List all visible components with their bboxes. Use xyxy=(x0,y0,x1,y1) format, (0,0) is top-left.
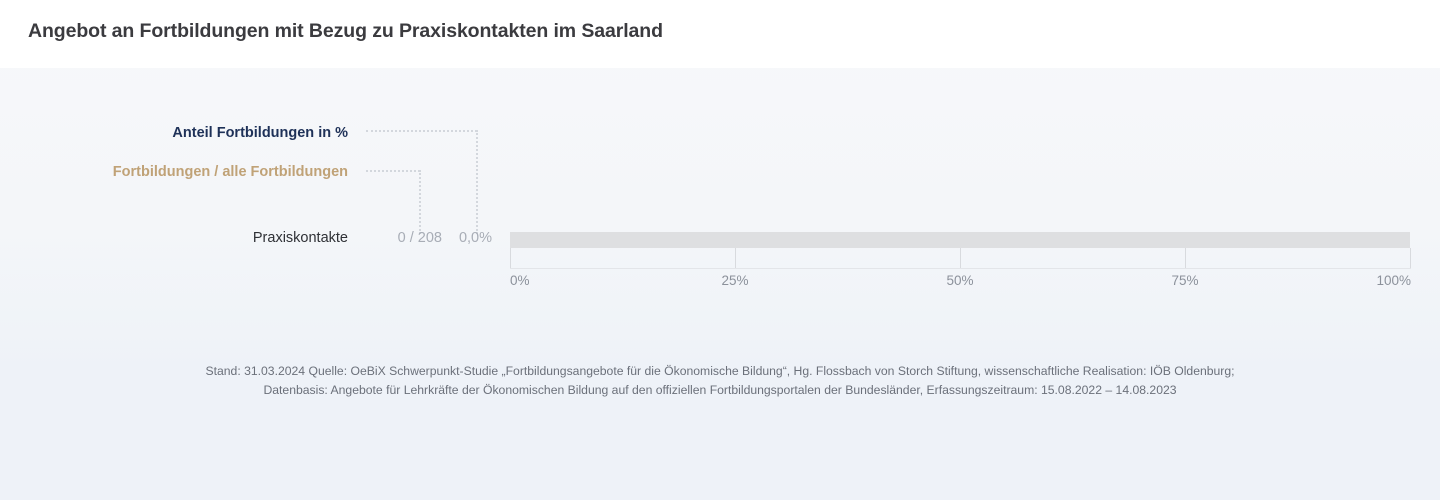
chart-page: Angebot an Fortbildungen mit Bezug zu Pr… xyxy=(0,0,1440,500)
header-band: Angebot an Fortbildungen mit Bezug zu Pr… xyxy=(0,0,1440,68)
axis-tick-0 xyxy=(510,248,511,268)
column-header-percent: Anteil Fortbildungen in % xyxy=(172,125,348,141)
leader-line-percent-vertical xyxy=(476,130,478,234)
footnote-line-1: Stand: 31.03.2024 Quelle: OeBiX Schwerpu… xyxy=(0,362,1440,381)
row-value-percent: 0,0% xyxy=(430,230,492,246)
axis-baseline xyxy=(510,268,1411,269)
axis-tick-label-100: 100% xyxy=(1376,273,1411,288)
footnote: Stand: 31.03.2024 Quelle: OeBiX Schwerpu… xyxy=(0,362,1440,400)
plot-area: Anteil Fortbildungen in % Fortbildungen … xyxy=(0,68,1440,308)
axis-tick-50 xyxy=(960,248,961,268)
x-axis: 0% 25% 50% 75% 100% xyxy=(0,248,1440,298)
row-value-ratio: 0 / 208 xyxy=(330,230,442,246)
bar-track xyxy=(510,232,1410,248)
axis-tick-100 xyxy=(1410,248,1411,268)
axis-tick-label-0: 0% xyxy=(510,273,530,288)
axis-tick-25 xyxy=(735,248,736,268)
page-title: Angebot an Fortbildungen mit Bezug zu Pr… xyxy=(28,20,663,43)
axis-tick-label-75: 75% xyxy=(1171,273,1198,288)
axis-tick-label-25: 25% xyxy=(721,273,748,288)
leader-line-ratio-horizontal xyxy=(366,170,420,172)
axis-tick-label-50: 50% xyxy=(946,273,973,288)
axis-tick-75 xyxy=(1185,248,1186,268)
leader-line-percent-horizontal xyxy=(366,130,477,132)
column-header-ratio: Fortbildungen / alle Fortbildungen xyxy=(113,164,348,180)
footnote-line-2: Datenbasis: Angebote für Lehrkräfte der … xyxy=(0,381,1440,400)
